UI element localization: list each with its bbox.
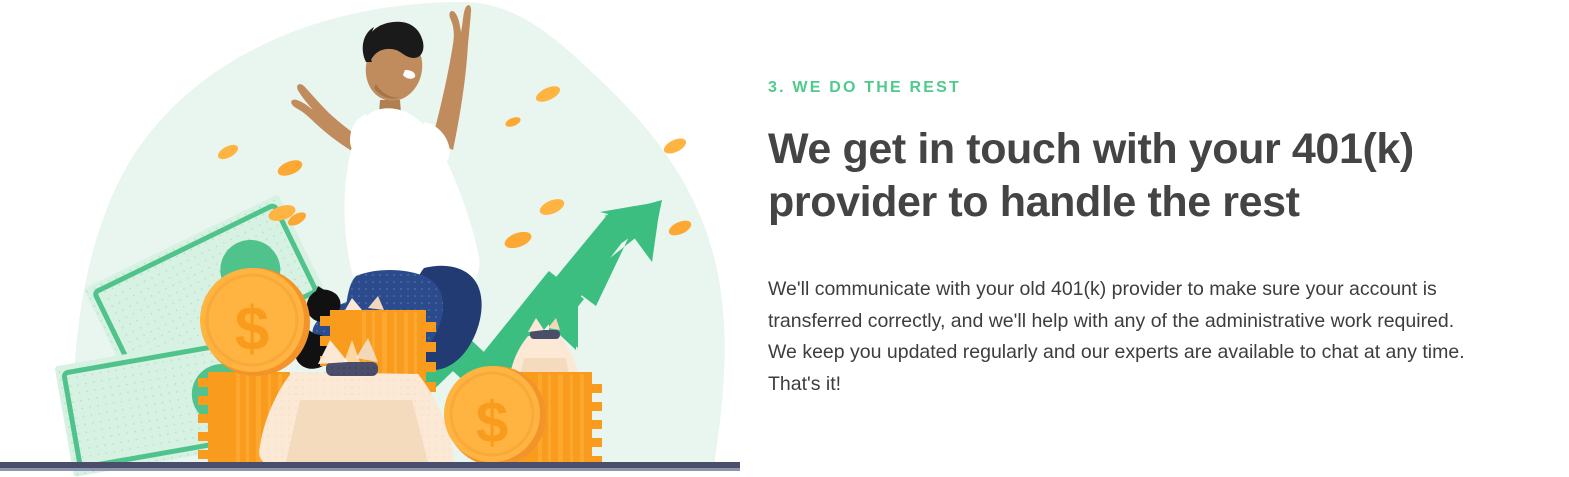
illustration-container: $ $ bbox=[0, 0, 760, 477]
text-content: 3. WE DO THE REST We get in touch with y… bbox=[760, 0, 1569, 400]
feature-section: $ $ 3. WE DO THE REST We get in touch wi… bbox=[0, 0, 1569, 477]
page-title: We get in touch with your 401(k) provide… bbox=[768, 123, 1468, 228]
section-eyebrow: 3. WE DO THE REST bbox=[768, 78, 1509, 97]
svg-text:$: $ bbox=[476, 390, 508, 455]
savings-illustration: $ $ bbox=[0, 0, 760, 477]
section-body-text: We'll communicate with your old 401(k) p… bbox=[768, 274, 1474, 400]
ground-line-icon bbox=[0, 462, 740, 471]
svg-text:$: $ bbox=[235, 295, 269, 364]
